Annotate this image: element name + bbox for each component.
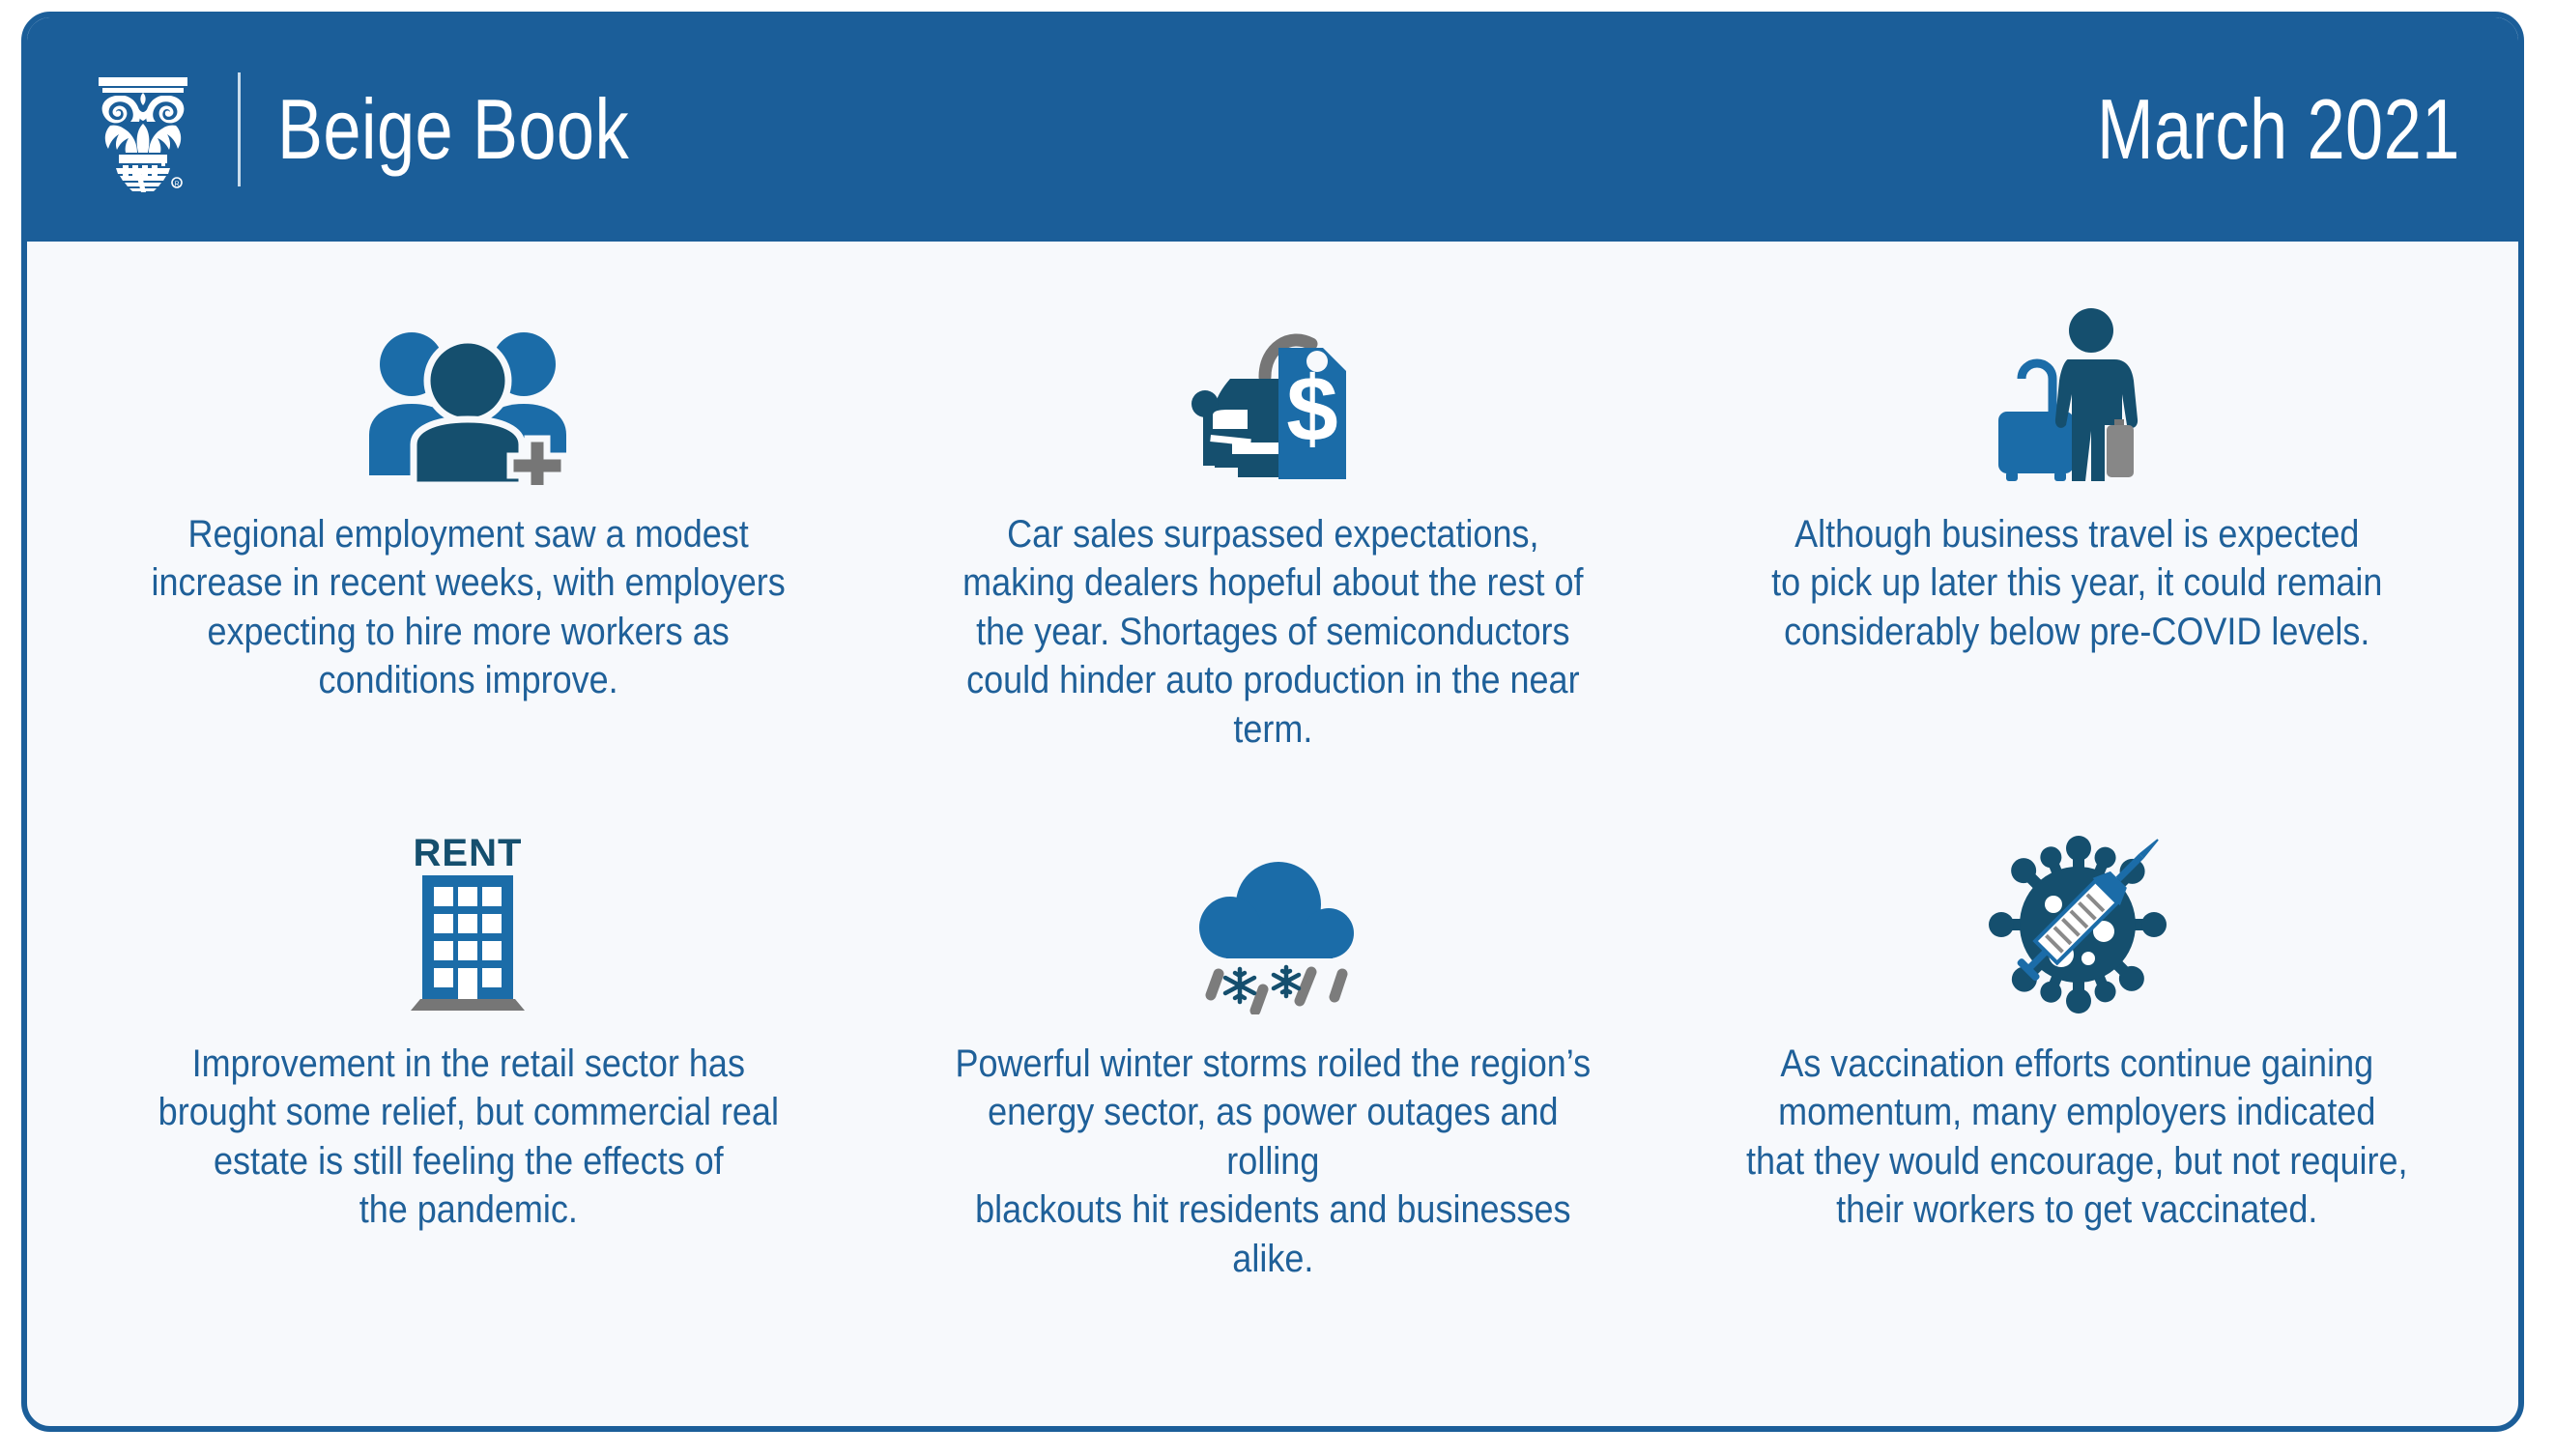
brand-lockup: R Beige Book xyxy=(87,17,717,242)
rent-building-icon: RENT xyxy=(395,821,540,1014)
storm-cloud-snow-rain-icon xyxy=(1176,821,1369,1014)
highlight-card-vaccination: As vaccination efforts continue gaining … xyxy=(1675,796,2480,1300)
svg-text:$: $ xyxy=(1286,357,1337,461)
federal-reserve-column-capital-logo-icon: R xyxy=(87,66,199,193)
highlight-card-energy-weather: Powerful winter storms roiled the region… xyxy=(871,796,1676,1300)
page-title: Beige Book xyxy=(277,87,629,172)
highlight-caption: As vaccination efforts continue gaining … xyxy=(1746,1040,2407,1235)
brand-divider xyxy=(238,72,241,186)
people-group-add-icon xyxy=(363,292,572,485)
highlight-card-employment: Regional employment saw a modest increas… xyxy=(66,292,871,796)
highlight-caption: Although business travel is expected to … xyxy=(1772,510,2383,656)
page-header: R Beige Book March 2021 xyxy=(27,17,2518,242)
svg-text:RENT: RENT xyxy=(414,832,523,874)
highlights-grid: Regional employment saw a modest increas… xyxy=(27,242,2518,1426)
highlight-caption: Car sales surpassed expectations, making… xyxy=(940,510,1605,754)
highlight-card-business-travel: Although business travel is expected to … xyxy=(1675,292,2480,796)
svg-text:R: R xyxy=(174,182,179,188)
highlight-caption: Improvement in the retail sector has bro… xyxy=(158,1040,778,1235)
highlight-caption: Regional employment saw a modest increas… xyxy=(151,510,785,705)
traveler-luggage-icon xyxy=(1991,292,2165,485)
highlight-caption: Powerful winter storms roiled the region… xyxy=(940,1040,1605,1283)
issue-date: March 2021 xyxy=(2097,87,2460,172)
highlight-card-auto-sales: $ Car sales surpassed expectations, maki… xyxy=(871,292,1676,796)
car-price-tag-icon: $ xyxy=(1176,292,1369,485)
virus-syringe-vaccine-icon xyxy=(1988,821,2167,1014)
highlight-card-commercial-real-estate: RENT xyxy=(66,796,871,1300)
infographic-card: R Beige Book March 2021 xyxy=(21,12,2524,1432)
